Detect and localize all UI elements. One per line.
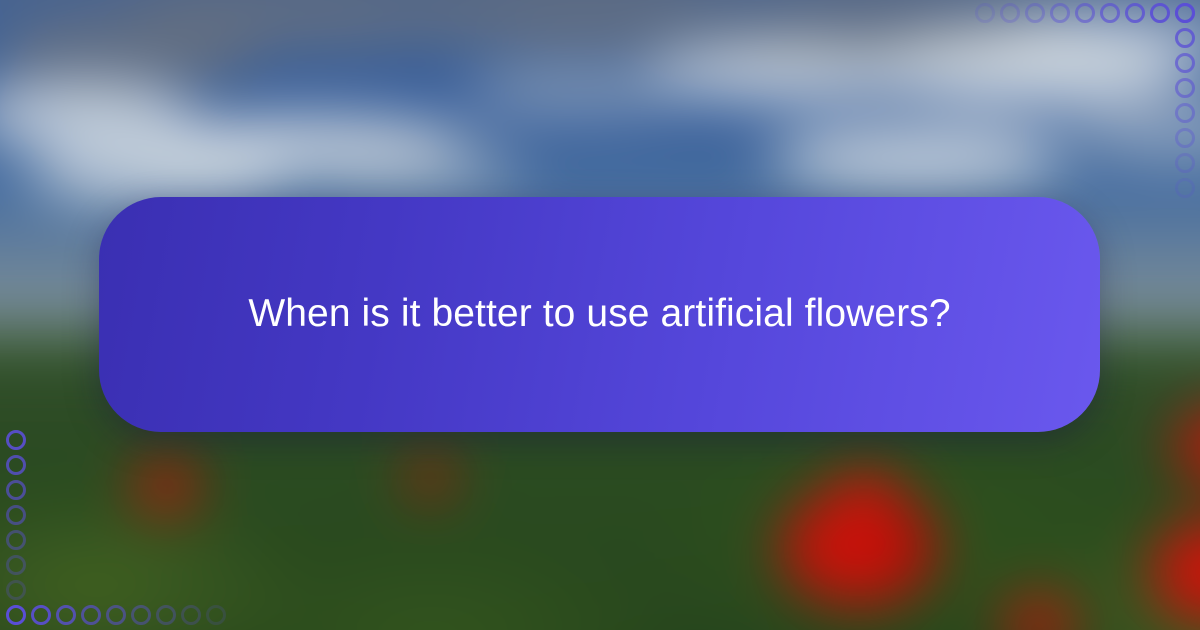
card-title-text: When is it better to use artificial flow… (248, 290, 950, 339)
cloud-blob (314, 146, 526, 191)
screenshot-canvas: When is it better to use artificial flow… (0, 0, 1200, 630)
poppy-flower (825, 471, 908, 547)
cloud-blob (876, 28, 1194, 106)
cloud-blob (770, 125, 1067, 189)
cloud-blob (28, 140, 293, 199)
poppy-flower (407, 458, 454, 496)
title-card: When is it better to use artificial flow… (99, 197, 1100, 432)
poppy-flower (134, 460, 200, 513)
